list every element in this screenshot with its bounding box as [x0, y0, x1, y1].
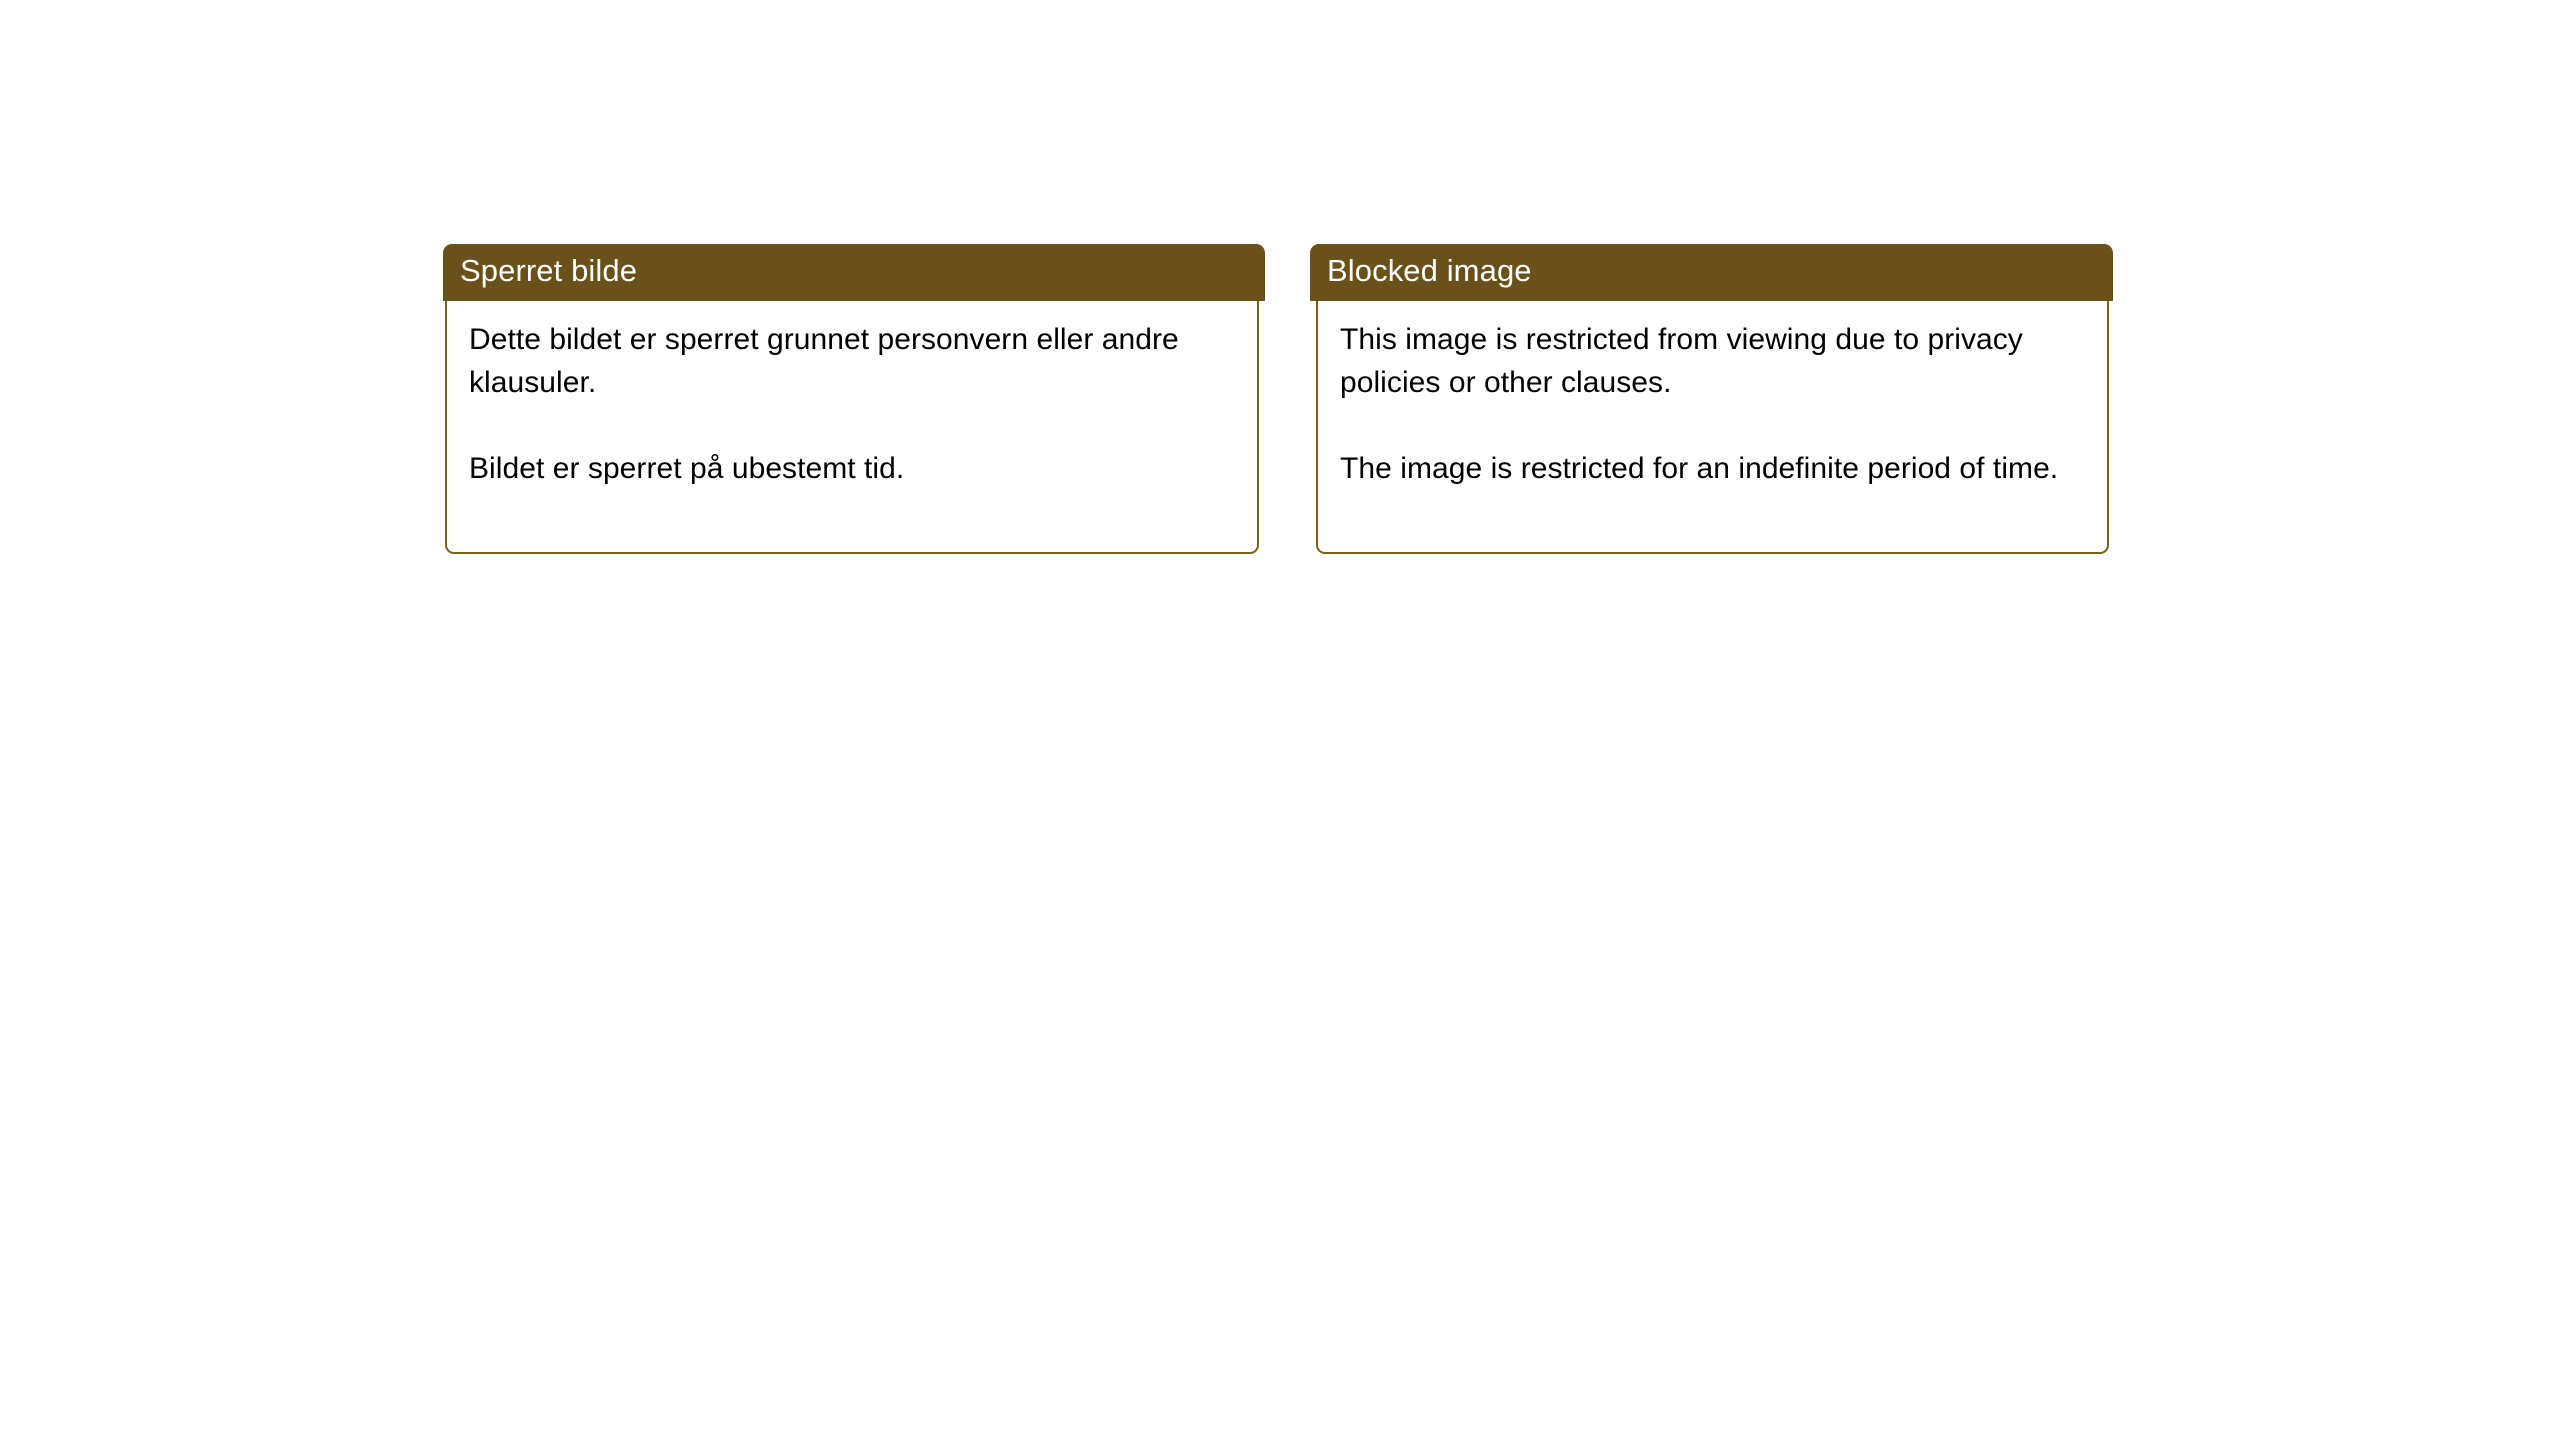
card-paragraph-restriction-reason-no: Dette bildet er sperret grunnet personve…: [469, 318, 1235, 404]
card-header-en: Blocked image: [1310, 244, 2113, 301]
card-paragraph-restriction-duration-no: Bildet er sperret på ubestemt tid.: [469, 447, 1235, 490]
page-canvas: Sperret bilde Dette bildet er sperret gr…: [0, 0, 2560, 1440]
card-paragraph-restriction-reason-en: This image is restricted from viewing du…: [1340, 318, 2085, 404]
card-paragraph-restriction-duration-en: The image is restricted for an indefinit…: [1340, 447, 2085, 490]
blocked-image-notice-card-en: Blocked image This image is restricted f…: [1310, 244, 2113, 554]
card-body-en: This image is restricted from viewing du…: [1316, 301, 2109, 554]
card-header-no: Sperret bilde: [443, 244, 1265, 301]
card-body-no: Dette bildet er sperret grunnet personve…: [445, 301, 1259, 554]
blocked-image-notice-card-no: Sperret bilde Dette bildet er sperret gr…: [443, 244, 1265, 554]
card-title-en: Blocked image: [1327, 251, 2113, 291]
card-title-no: Sperret bilde: [460, 251, 1265, 291]
